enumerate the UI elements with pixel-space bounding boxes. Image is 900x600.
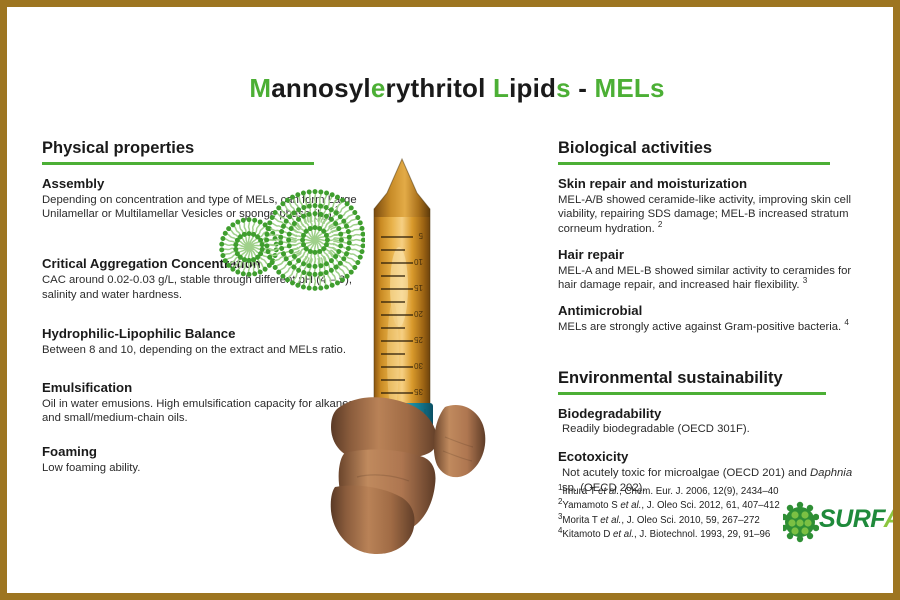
section-heading-biological: Biological activities [558,139,868,158]
poster-canvas: Mannosylerythritol Lipids - MELs Physica… [0,0,900,600]
references-list: 1Imura T et al., Chem. Eur. J. 2006, 12(… [558,485,808,542]
svg-text:25: 25 [414,335,423,344]
item-body-foaming: Low foaming ability. [42,461,362,476]
section-rule-biological [558,162,830,165]
reference-entry: 2Yamamoto S et al., J. Oleo Sci. 2012, 6… [558,499,808,513]
title-fragment: rythritol [386,73,493,103]
logo-sphere-icon [783,502,819,542]
section-heading-physical: Physical properties [42,139,362,158]
title-fragment: e [371,73,386,103]
logo-wordmark: SURFACT [819,505,900,534]
column-biological-environmental: Biological activities Skin repair and mo… [558,139,868,495]
logo-text-a: A [884,505,900,533]
product-photo: 5 10 15 20 25 30 35 40 [327,157,562,567]
hand [331,397,486,554]
title-fragment: - [571,73,595,103]
reference-entry: 1Imura T et al., Chem. Eur. J. 2006, 12(… [558,485,808,499]
title-fragment: s [556,73,571,103]
svg-text:10: 10 [414,257,423,266]
item-title-skin-repair: Skin repair and moisturization [558,176,868,192]
item-biodegradability: Biodegradability Readily biodegradable (… [558,406,868,438]
title-fragment: MELs [594,73,664,103]
item-body-hair-repair: MEL-A and MEL-B showed similar activity … [558,264,868,293]
item-body-emulsification: Oil in water emusions. High emulsificati… [42,397,362,426]
item-hydrophilic-lipophilic-balance: Hydrophilic-Lipophilic Balance Between 8… [42,326,362,358]
item-title-biodegradability: Biodegradability [558,406,868,422]
item-title-foaming: Foaming [42,444,362,460]
svg-text:30: 30 [414,361,423,370]
item-title-antimicrobial: Antimicrobial [558,303,868,319]
item-body-biodegradability: Readily biodegradable (OECD 301F). [558,422,868,437]
item-skin-repair: Skin repair and moisturization MEL-A/B s… [558,176,868,237]
item-hair-repair: Hair repair MEL-A and MEL-B showed simil… [558,247,868,293]
item-title-hair-repair: Hair repair [558,247,868,263]
title-fragment: annosyl [271,73,371,103]
section-environmental: Environmental sustainability Biodegradab… [558,369,868,496]
section-rule-physical [42,162,314,165]
svg-text:20: 20 [414,309,423,318]
title-fragment: M [249,73,271,103]
surfact-logo: SURFACT [783,499,895,545]
section-rule-environmental [558,392,826,395]
item-body-skin-repair: MEL-A/B showed ceramide-like activity, i… [558,193,868,237]
item-emulsification: Emulsification Oil in water emusions. Hi… [42,380,362,426]
unilamellar-vesicle-icon [219,217,279,277]
svg-text:15: 15 [414,283,423,292]
page-title: Mannosylerythritol Lipids - MELs [7,73,900,104]
item-title-emulsification: Emulsification [42,380,362,396]
item-title-hlb: Hydrophilic-Lipophilic Balance [42,326,362,342]
svg-text:35: 35 [414,387,423,396]
title-fragment: ipid [509,73,556,103]
item-antimicrobial: Antimicrobial MELs are strongly active a… [558,303,868,335]
reference-entry: 3Morita T et al., J. Oleo Sci. 2010, 59,… [558,514,808,528]
item-body-hlb: Between 8 and 10, depending on the extra… [42,343,362,358]
item-title-ecotoxicity: Ecotoxicity [558,449,868,465]
title-fragment: L [493,73,509,103]
item-foaming: Foaming Low foaming ability. [42,444,362,476]
logo-text-surf: SURF [819,505,884,533]
item-body-antimicrobial: MELs are strongly active against Gram-po… [558,320,868,335]
reference-entry: 4Kitamoto D et al., J. Biotechnol. 1993,… [558,528,808,542]
svg-text:5: 5 [418,231,423,240]
graduated-tube: 5 10 15 20 25 30 35 40 [374,159,430,425]
section-heading-environmental: Environmental sustainability [558,369,868,388]
